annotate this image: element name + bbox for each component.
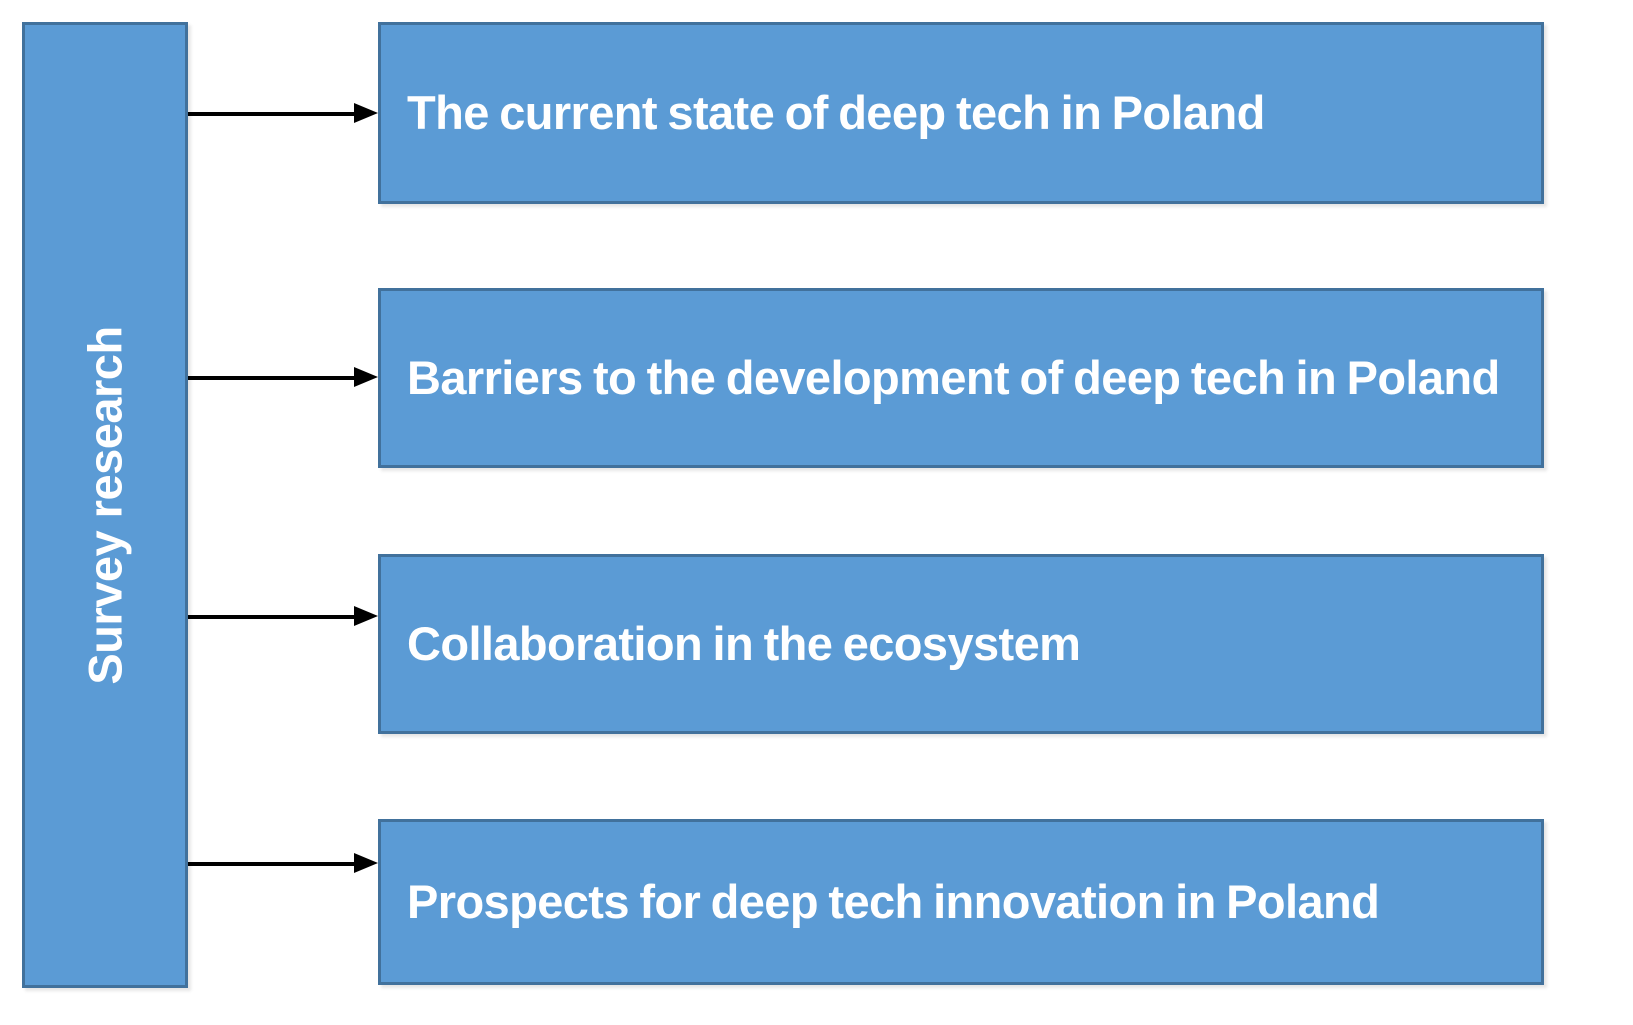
connector-arrow-1 — [188, 110, 378, 117]
topic-box-4: Prospects for deep tech innovation in Po… — [378, 819, 1544, 985]
connector-arrow-2 — [188, 374, 378, 381]
topic-box-3: Collaboration in the ecosystem — [378, 554, 1544, 734]
connector-arrow-4 — [188, 860, 378, 867]
topic-box-1-label: The current state of deep tech in Poland — [381, 87, 1291, 140]
topic-box-4-label: Prospects for deep tech innovation in Po… — [381, 876, 1405, 929]
arrow-shaft — [188, 862, 356, 866]
arrow-head-icon — [354, 103, 378, 123]
topic-box-3-label: Collaboration in the ecosystem — [381, 618, 1106, 671]
arrow-shaft — [188, 376, 356, 380]
arrow-head-icon — [354, 606, 378, 626]
source-box-label: Survey research — [82, 326, 129, 684]
source-box-survey-research: Survey research — [22, 22, 188, 988]
topic-box-1: The current state of deep tech in Poland — [378, 22, 1544, 204]
connector-arrow-3 — [188, 613, 378, 620]
topic-box-2: Barriers to the development of deep tech… — [378, 288, 1544, 468]
arrow-shaft — [188, 615, 356, 619]
arrow-shaft — [188, 112, 356, 116]
arrow-head-icon — [354, 367, 378, 387]
diagram-canvas: Survey research The current state of dee… — [0, 0, 1633, 1025]
arrow-head-icon — [354, 853, 378, 873]
topic-box-2-label: Barriers to the development of deep tech… — [381, 352, 1526, 405]
